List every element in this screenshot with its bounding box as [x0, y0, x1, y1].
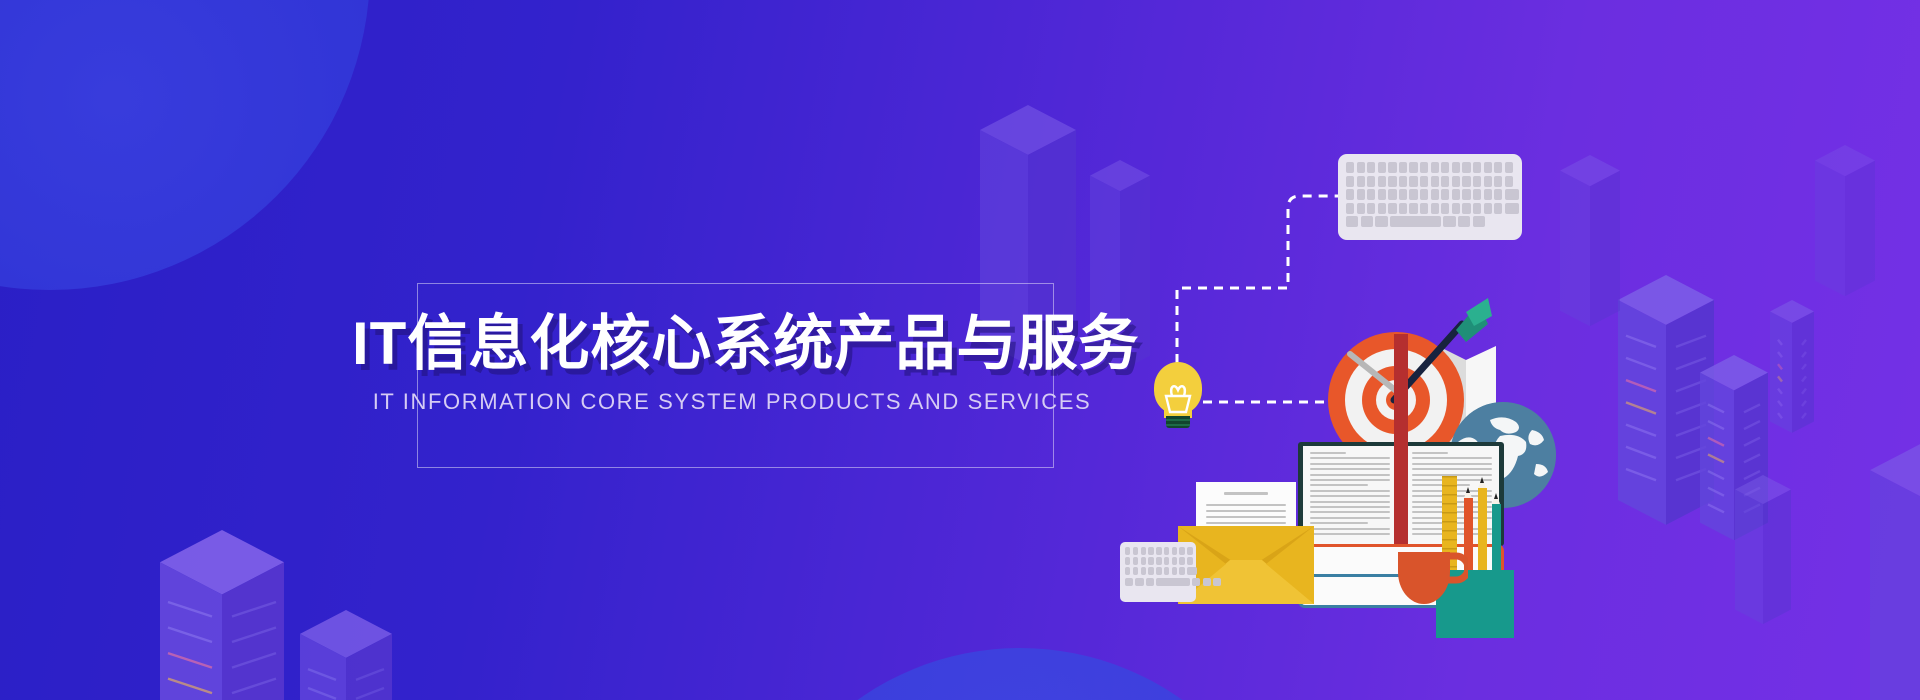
lightbulb-icon	[1150, 362, 1206, 434]
building-2	[300, 610, 392, 700]
building-11	[1815, 145, 1875, 296]
hero-illustration	[1120, 140, 1560, 580]
building-1	[160, 530, 284, 700]
circle-top-left	[0, 0, 370, 290]
page-title: IT信息化核心系统产品与服务	[352, 312, 1112, 375]
coffee-mug-icon	[1398, 552, 1468, 604]
keyboard-bottom-icon	[1120, 542, 1196, 602]
building-9	[1735, 475, 1791, 624]
page-subtitle: IT INFORMATION CORE SYSTEM PRODUCTS AND …	[352, 389, 1112, 415]
hero-banner: IT信息化核心系统产品与服务 IT INFORMATION CORE SYSTE…	[0, 0, 1920, 700]
keyboard-top-icon	[1338, 154, 1522, 240]
title-block: IT信息化核心系统产品与服务 IT INFORMATION CORE SYSTE…	[352, 312, 1112, 415]
building-6	[1560, 155, 1620, 326]
envelope-with-report-icon	[1178, 482, 1314, 604]
circle-bottom-center	[740, 648, 1300, 700]
building-8	[1770, 300, 1814, 433]
building-10	[1870, 440, 1920, 700]
